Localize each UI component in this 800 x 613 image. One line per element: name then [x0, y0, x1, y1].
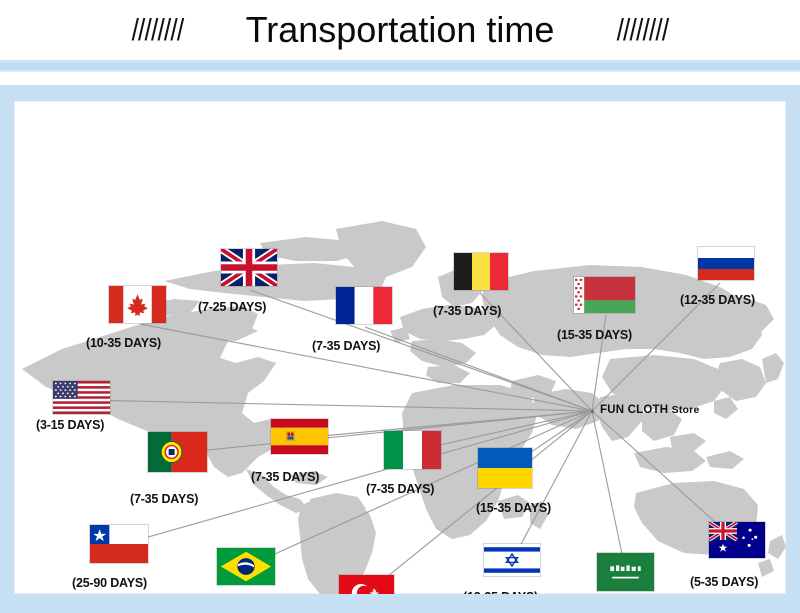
right-slashes-decoration: ////////	[617, 12, 669, 48]
header-divider-bottom	[0, 70, 800, 72]
flag-canada-icon	[109, 286, 166, 323]
flag-portugal-icon	[148, 432, 207, 472]
map-panel: FUN CLOTH Store (10-35 DAYS)(7-25 DAYS)(…	[0, 85, 800, 613]
transportation-time-infographic: //////// Transportation time ////////	[0, 0, 800, 613]
header-divider-mid	[0, 63, 800, 70]
delivery-time-portugal: (7-35 DAYS)	[130, 492, 198, 506]
delivery-time-australia: (5-35 DAYS)	[690, 575, 758, 589]
delivery-time-spain: (7-35 DAYS)	[251, 470, 319, 484]
hub-store-suffix: Store	[672, 404, 700, 416]
flag-usa-icon	[53, 381, 110, 414]
left-slashes-decoration: ////////	[131, 12, 183, 48]
header-banner: //////// Transportation time ////////	[0, 0, 800, 60]
delivery-time-belarus: (15-35 DAYS)	[557, 328, 632, 342]
flag-uk-icon	[221, 249, 277, 286]
delivery-time-canada: (10-35 DAYS)	[86, 336, 161, 350]
flag-russia-icon	[698, 247, 754, 280]
hub-origin-point	[591, 410, 594, 413]
delivery-time-belgium: (7-35 DAYS)	[433, 304, 501, 318]
flag-chile-icon	[90, 525, 148, 563]
delivery-time-usa: (3-15 DAYS)	[36, 418, 104, 432]
delivery-time-russia: (12-35 DAYS)	[680, 293, 755, 307]
delivery-time-ukraine: (15-35 DAYS)	[476, 501, 551, 515]
flag-australia-icon	[709, 522, 765, 558]
delivery-time-uk: (7-25 DAYS)	[198, 300, 266, 314]
flag-israel-icon	[484, 544, 540, 576]
page-title: Transportation time	[246, 9, 555, 51]
delivery-time-france: (7-35 DAYS)	[312, 339, 380, 353]
flag-turkey-icon	[339, 575, 394, 594]
delivery-time-israel: (12-35 DAYS)	[463, 590, 538, 594]
flag-saudi-arabia-icon	[597, 553, 654, 591]
delivery-time-italy: (7-35 DAYS)	[366, 482, 434, 496]
flag-italy-icon	[384, 431, 441, 469]
flag-spain-icon	[271, 419, 328, 454]
map-canvas: FUN CLOTH Store (10-35 DAYS)(7-25 DAYS)(…	[14, 101, 786, 594]
flag-ukraine-icon	[478, 448, 532, 488]
delivery-time-chile: (25-90 DAYS)	[72, 576, 147, 590]
flag-belarus-icon	[574, 277, 635, 313]
hub-store-name: FUN CLOTH	[600, 404, 668, 416]
flag-belgium-icon	[454, 253, 508, 290]
flag-france-icon	[336, 287, 392, 324]
hub-store-label: FUN CLOTH Store	[600, 404, 699, 416]
flag-brazil-icon	[217, 548, 275, 585]
